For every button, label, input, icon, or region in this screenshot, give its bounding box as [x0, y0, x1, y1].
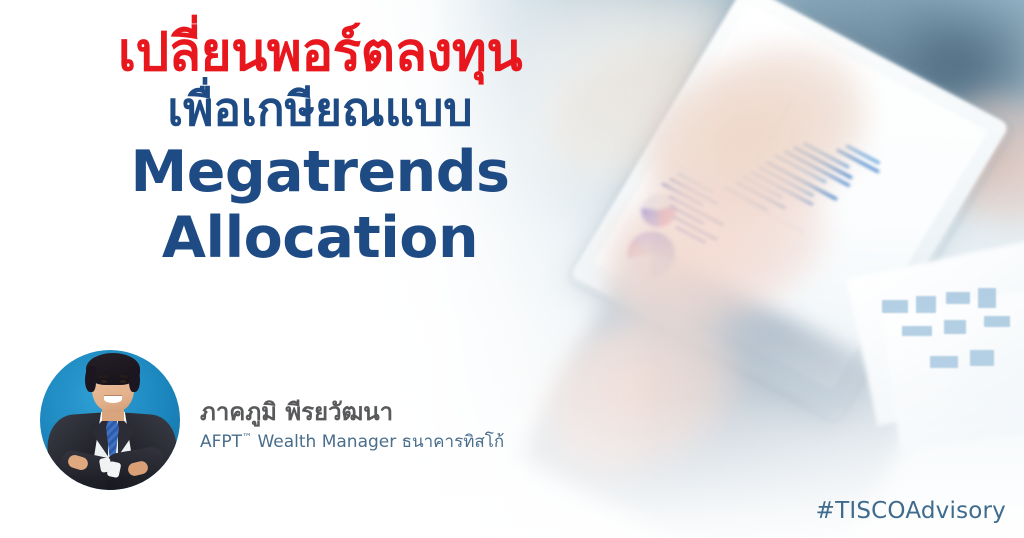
speaker-role: AFPT™ Wealth Manager ธนาคารทิสโก้: [200, 431, 504, 454]
avatar: [37, 337, 183, 490]
headline-english-line-2: Allocation: [0, 205, 640, 271]
avatar-hair-right: [129, 366, 140, 392]
trademark-symbol: ™: [242, 432, 252, 443]
headline-thai-line-1: เปลี่ยนพอร์ตลงทุน: [0, 26, 640, 80]
avatar-eye-right: [120, 380, 126, 383]
avatar-circle-background: [40, 350, 180, 490]
hashtag-label: #TISCOAdvisory: [816, 498, 1006, 524]
headline-english-line-1: Megatrends: [0, 139, 640, 205]
speaker-block: ภาคภูมิ พีรยวัฒนา AFPT™ Wealth Manager ธ…: [200, 398, 504, 454]
speaker-name: ภาคภูมิ พีรยวัฒนา: [200, 398, 504, 427]
headline-thai-line-2: เพื่อเกษียณแบบ: [0, 80, 640, 139]
avatar-cuff-right: [99, 457, 112, 473]
speaker-role-suffix: Wealth Manager ธนาคารทิสโก้: [252, 432, 504, 452]
headline-block: เปลี่ยนพอร์ตลงทุน เพื่อเกษียณแบบ Megatre…: [0, 26, 640, 271]
banner-root: เปลี่ยนพอร์ตลงทุน เพื่อเกษียณแบบ Megatre…: [0, 0, 1024, 538]
speaker-role-prefix: AFPT: [200, 432, 242, 452]
avatar-smile: [104, 395, 122, 403]
avatar-hair-left: [85, 366, 96, 392]
avatar-eye-left: [101, 380, 107, 383]
